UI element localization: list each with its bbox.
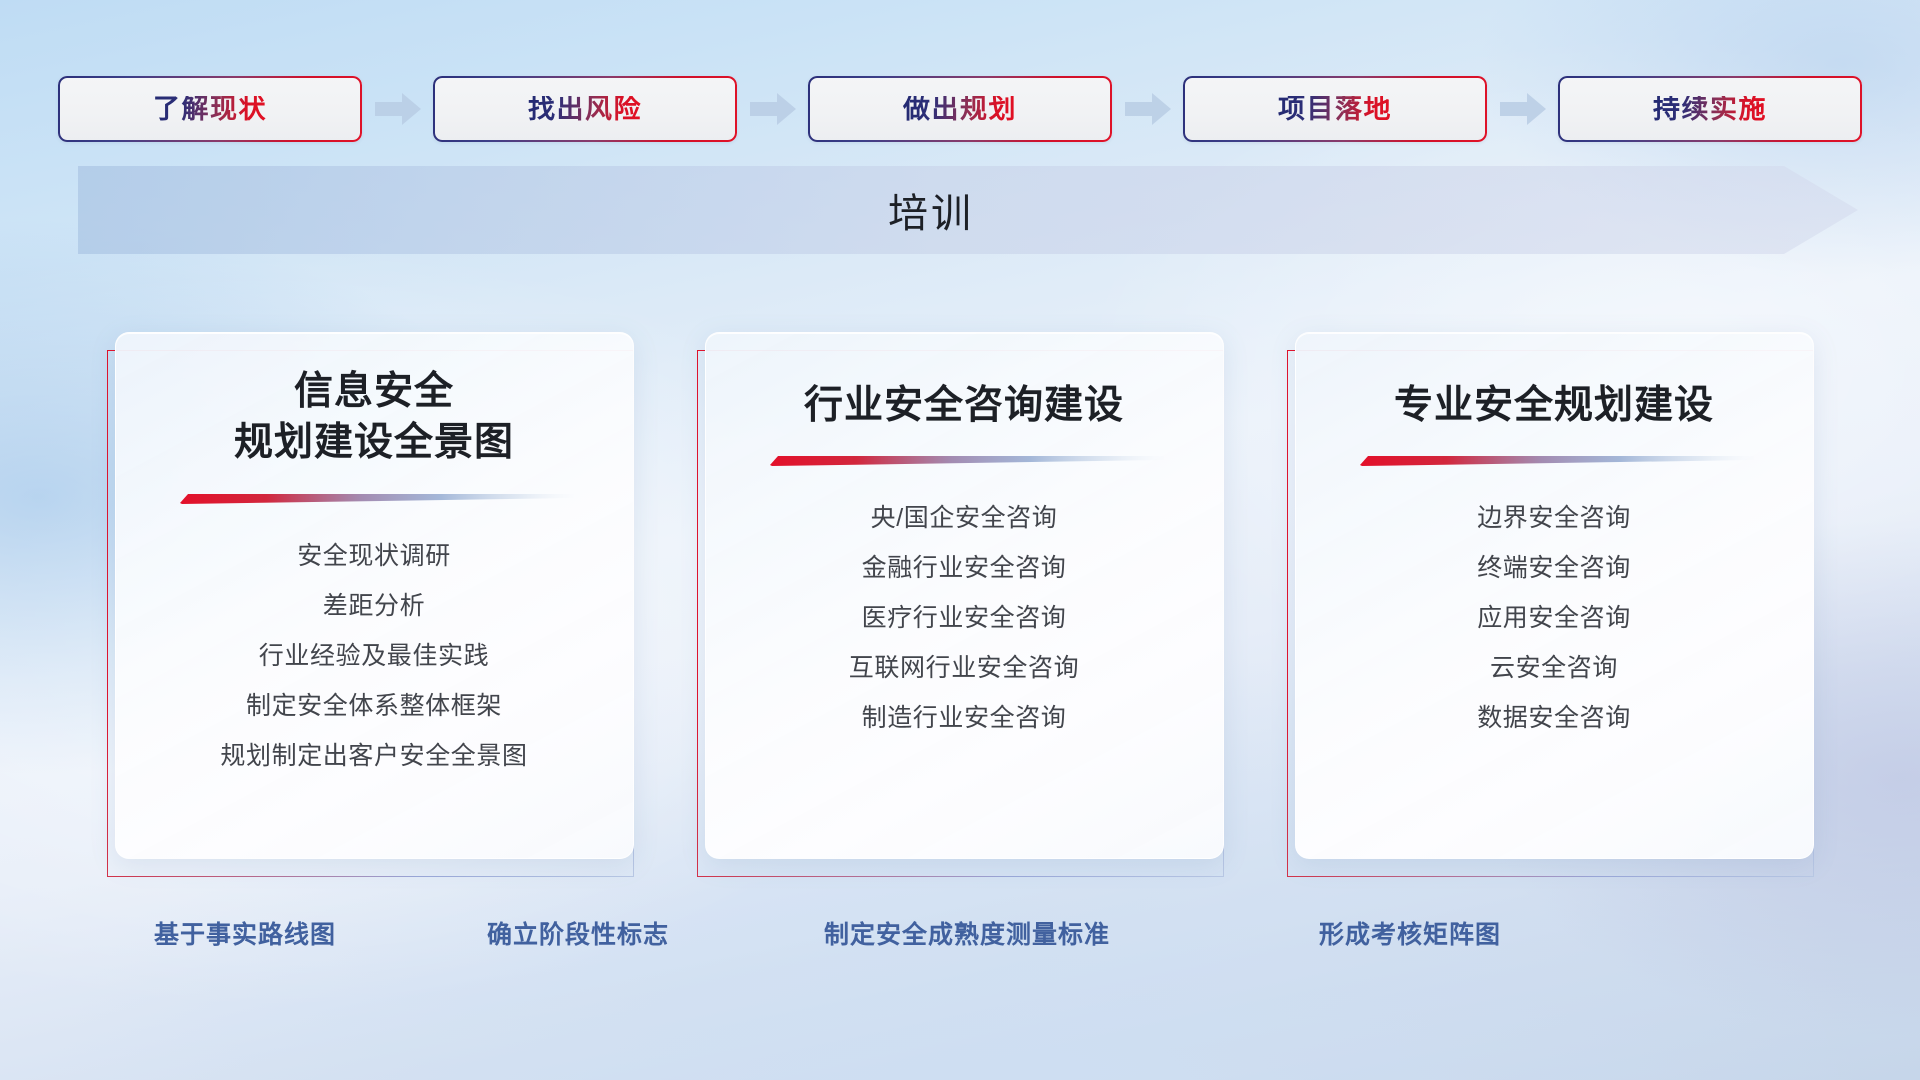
step-label-3: 做出规划 bbox=[903, 96, 1017, 123]
outcome-label-2: 确立阶段性标志 bbox=[487, 912, 669, 958]
card-title-line: 规划建设全景图 bbox=[234, 417, 514, 468]
card-body: 行业安全咨询建设 bbox=[705, 332, 1224, 859]
banner-label: 培训 bbox=[78, 166, 1858, 254]
card-title-line: 专业安全规划建设 bbox=[1394, 380, 1714, 431]
outcome-label-1: 基于事实路线图 bbox=[154, 912, 336, 958]
list-item: 制定安全体系整体框架 bbox=[246, 681, 502, 731]
card-divider bbox=[174, 491, 574, 507]
step-box-2[interactable]: 找出风险 bbox=[433, 76, 737, 142]
arrow-right-icon bbox=[1487, 76, 1558, 142]
list-item: 央/国企安全咨询 bbox=[871, 493, 1058, 543]
list-item: 规划制定出客户安全全景图 bbox=[220, 731, 527, 781]
card-title-line: 行业安全咨询建设 bbox=[804, 380, 1124, 431]
list-item: 差距分析 bbox=[323, 581, 425, 631]
card-title: 信息安全 规划建设全景图 bbox=[214, 366, 534, 469]
step-label-2: 找出风险 bbox=[528, 96, 642, 123]
list-item: 边界安全咨询 bbox=[1477, 493, 1631, 543]
card-item-list: 边界安全咨询 终端安全咨询 应用安全咨询 云安全咨询 数据安全咨询 bbox=[1296, 493, 1813, 743]
card-title: 专业安全规划建设 bbox=[1374, 380, 1734, 431]
outcome-label-3: 制定安全成熟度测量标准 bbox=[824, 912, 1110, 958]
step-box-5[interactable]: 持续实施 bbox=[1558, 76, 1862, 142]
process-step-row: 了解现状 找出风险 做出规划 项目落地 持续实施 bbox=[0, 76, 1920, 142]
step-label-5: 持续实施 bbox=[1653, 96, 1767, 123]
list-item: 医疗行业安全咨询 bbox=[862, 593, 1067, 643]
service-card-1[interactable]: 信息安全 规划建设全景图 bbox=[107, 332, 634, 877]
service-card-2[interactable]: 行业安全咨询建设 bbox=[697, 332, 1224, 877]
card-body: 专业安全规划建设 bbox=[1295, 332, 1814, 859]
list-item: 安全现状调研 bbox=[297, 531, 451, 581]
card-title-line: 信息安全 bbox=[234, 366, 514, 417]
service-card-3[interactable]: 专业安全规划建设 bbox=[1287, 332, 1814, 877]
arrow-right-icon bbox=[737, 76, 808, 142]
card-body: 信息安全 规划建设全景图 bbox=[115, 332, 634, 859]
card-divider bbox=[1354, 453, 1754, 469]
outcome-label-4: 形成考核矩阵图 bbox=[1319, 912, 1501, 958]
step-box-1[interactable]: 了解现状 bbox=[58, 76, 362, 142]
service-card-row: 信息安全 规划建设全景图 bbox=[0, 332, 1920, 877]
training-banner: 培训 bbox=[78, 166, 1858, 254]
list-item: 制造行业安全咨询 bbox=[862, 693, 1067, 743]
card-item-list: 安全现状调研 差距分析 行业经验及最佳实践 制定安全体系整体框架 规划制定出客户… bbox=[116, 531, 633, 781]
list-item: 应用安全咨询 bbox=[1477, 593, 1631, 643]
card-divider bbox=[764, 453, 1164, 469]
list-item: 行业经验及最佳实践 bbox=[259, 631, 489, 681]
step-label-4: 项目落地 bbox=[1278, 96, 1392, 123]
list-item: 互联网行业安全咨询 bbox=[849, 643, 1079, 693]
list-item: 云安全咨询 bbox=[1490, 643, 1618, 693]
step-box-3[interactable]: 做出规划 bbox=[808, 76, 1112, 142]
card-title: 行业安全咨询建设 bbox=[784, 380, 1144, 431]
list-item: 终端安全咨询 bbox=[1477, 543, 1631, 593]
step-label-1: 了解现状 bbox=[153, 96, 267, 123]
arrow-right-icon bbox=[1112, 76, 1183, 142]
arrow-right-icon bbox=[362, 76, 433, 142]
list-item: 数据安全咨询 bbox=[1477, 693, 1631, 743]
outcome-label-row: 基于事实路线图 确立阶段性标志 制定安全成熟度测量标准 形成考核矩阵图 bbox=[0, 912, 1920, 958]
list-item: 金融行业安全咨询 bbox=[862, 543, 1067, 593]
card-item-list: 央/国企安全咨询 金融行业安全咨询 医疗行业安全咨询 互联网行业安全咨询 制造行… bbox=[706, 493, 1223, 743]
step-box-4[interactable]: 项目落地 bbox=[1183, 76, 1487, 142]
